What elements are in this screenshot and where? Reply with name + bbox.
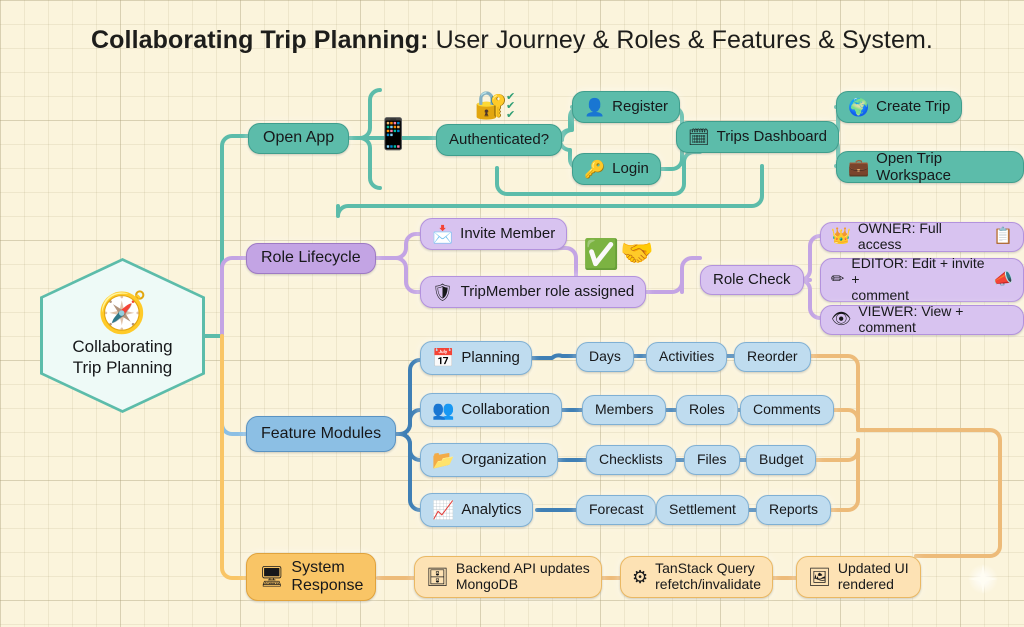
node-step-days[interactable]: Days	[576, 342, 634, 372]
root-node[interactable]: 🧭 Collaborating Trip Planning	[40, 258, 205, 413]
node-open-trip-workspace-label: Open Trip Workspace	[876, 150, 1012, 184]
node-login-label: Login	[612, 160, 649, 177]
sparkle-decoration	[962, 558, 1004, 600]
calendar-pin-icon: 🗓	[688, 129, 710, 146]
node-module-planning[interactable]: 📅 Planning	[420, 341, 532, 375]
node-trips-dashboard-label: Trips Dashboard	[717, 128, 827, 145]
branch-system-response[interactable]: 🖥 System Response	[246, 553, 376, 601]
node-step-members-label: Members	[595, 402, 653, 418]
handshake-icon: 🤝	[620, 240, 654, 267]
node-tanstack-query-label: TanStack Query refetch/invalidate	[655, 561, 761, 593]
node-module-organization-label: Organization	[461, 451, 546, 468]
megaphone-icon: 📣	[993, 272, 1013, 288]
node-step-reports-label: Reports	[769, 502, 818, 518]
compass-icon: 🧭	[98, 293, 148, 333]
node-tanstack-query[interactable]: ⚙ TanStack Query refetch/invalidate	[620, 556, 773, 598]
pencil-icon: ✏	[831, 272, 844, 288]
eye-icon: 👁	[831, 312, 851, 328]
node-step-activities[interactable]: Activities	[646, 342, 727, 372]
node-step-roles-label: Roles	[689, 402, 725, 418]
node-step-forecast[interactable]: Forecast	[576, 495, 656, 525]
page-title-rest: User Journey & Roles & Features & System…	[429, 26, 933, 54]
node-backend-api-mongodb[interactable]: 🗄 Backend API updates MongoDB	[414, 556, 602, 598]
branch-role-lifecycle[interactable]: Role Lifecycle	[246, 243, 376, 274]
shield-star-icon: 🛡	[432, 284, 454, 301]
branch-feature-modules-label: Feature Modules	[261, 425, 381, 443]
envelope-user-icon: 📩	[432, 226, 453, 243]
node-register-label: Register	[612, 98, 668, 115]
node-role-editor-label: EDITOR: Edit + invite + comment	[851, 256, 987, 304]
key-icon: 🔑	[584, 161, 605, 178]
node-step-checklists[interactable]: Checklists	[586, 445, 676, 475]
node-updated-ui-rendered[interactable]: 🖼 Updated UI rendered	[796, 556, 921, 598]
node-module-analytics[interactable]: 📈 Analytics	[420, 493, 533, 527]
node-authenticated[interactable]: Authenticated?	[436, 124, 562, 156]
node-step-comments[interactable]: Comments	[740, 395, 834, 425]
node-tripmember-assigned-label: TripMember role assigned	[461, 283, 635, 300]
folder-icon: 📂	[432, 451, 454, 469]
node-step-files-label: Files	[697, 452, 727, 468]
node-trips-dashboard[interactable]: 🗓 Trips Dashboard	[676, 121, 839, 153]
node-role-viewer-label: VIEWER: View + comment	[858, 304, 1013, 336]
branch-open-app[interactable]: Open App	[248, 123, 349, 154]
node-invite-member[interactable]: 📩 Invite Member	[420, 218, 567, 250]
node-updated-ui-rendered-label: Updated UI rendered	[838, 561, 909, 593]
node-step-reorder-label: Reorder	[747, 349, 798, 365]
branch-system-response-label: System Response	[291, 559, 363, 595]
node-module-collaboration-label: Collaboration	[461, 401, 549, 418]
briefcase-icon: 💼	[848, 159, 869, 176]
node-step-members[interactable]: Members	[582, 395, 666, 425]
node-step-forecast-label: Forecast	[589, 502, 643, 518]
node-step-settlement[interactable]: Settlement	[656, 495, 749, 525]
node-role-check[interactable]: Role Check	[700, 265, 804, 295]
node-module-analytics-label: Analytics	[461, 501, 521, 518]
node-module-planning-label: Planning	[461, 349, 519, 366]
crown-icon: 👑	[831, 229, 851, 245]
monitor-sync-icon: 🖥	[259, 567, 284, 587]
add-user-icon: 👤	[584, 99, 605, 116]
node-step-days-label: Days	[589, 349, 621, 365]
branch-feature-modules[interactable]: Feature Modules	[246, 416, 396, 452]
node-step-reorder[interactable]: Reorder	[734, 342, 811, 372]
node-login[interactable]: 🔑 Login	[572, 153, 661, 185]
mobile-phone-icon: 📱	[377, 104, 410, 166]
node-step-budget[interactable]: Budget	[746, 445, 816, 475]
page-title: Collaborating Trip Planning: User Journe…	[0, 26, 1024, 55]
node-role-check-label: Role Check	[713, 271, 791, 288]
people-group-icon: 👥	[432, 401, 454, 419]
branch-open-app-label: Open App	[263, 129, 334, 147]
window-sync-icon: 🖼	[808, 568, 831, 586]
node-tripmember-assigned[interactable]: 🛡 TripMember role assigned	[420, 276, 646, 308]
node-step-roles[interactable]: Roles	[676, 395, 738, 425]
node-step-settlement-label: Settlement	[669, 502, 736, 518]
clipboard-icon: 📋	[993, 229, 1013, 245]
mindmap-canvas: Collaborating Trip Planning: User Journe…	[0, 0, 1024, 627]
page-title-bold: Collaborating Trip Planning:	[91, 26, 429, 54]
lock-check-icon: 🔐	[474, 92, 508, 119]
node-role-editor[interactable]: ✏ EDITOR: Edit + invite + comment 📣	[820, 258, 1024, 302]
check-marks-icon: ✔✔✔	[506, 93, 515, 120]
node-module-collaboration[interactable]: 👥 Collaboration	[420, 393, 562, 427]
node-register[interactable]: 👤 Register	[572, 91, 680, 123]
calendar-clock-icon: 📅	[432, 349, 454, 367]
chart-pie-icon: 📈	[432, 501, 454, 519]
mobile-phone-glyph: 📱	[375, 120, 412, 150]
node-open-trip-workspace[interactable]: 💼 Open Trip Workspace	[836, 151, 1024, 183]
database-icon: 🗄	[426, 568, 449, 586]
root-hex-inner: 🧭 Collaborating Trip Planning	[43, 261, 202, 410]
node-invite-member-label: Invite Member	[460, 225, 555, 242]
root-label: Collaborating Trip Planning	[72, 337, 172, 378]
gear-icon: ⚙	[632, 568, 648, 586]
branch-role-lifecycle-label: Role Lifecycle	[261, 249, 361, 267]
node-authenticated-label: Authenticated?	[449, 131, 549, 148]
node-step-budget-label: Budget	[759, 452, 803, 468]
node-role-viewer[interactable]: 👁 VIEWER: View + comment	[820, 305, 1024, 335]
node-role-owner-label: OWNER: Full access	[858, 221, 987, 253]
node-role-owner[interactable]: 👑 OWNER: Full access 📋	[820, 222, 1024, 252]
node-create-trip[interactable]: 🌍 Create Trip	[836, 91, 962, 123]
node-step-reports[interactable]: Reports	[756, 495, 831, 525]
node-step-files[interactable]: Files	[684, 445, 740, 475]
node-step-activities-label: Activities	[659, 349, 714, 365]
node-create-trip-label: Create Trip	[876, 98, 950, 115]
node-step-checklists-label: Checklists	[599, 452, 663, 468]
check-mark-icon: ✅	[583, 241, 619, 270]
node-step-comments-label: Comments	[753, 402, 821, 418]
node-backend-api-mongodb-label: Backend API updates MongoDB	[456, 561, 590, 593]
globe-icon: 🌍	[848, 99, 869, 116]
node-module-organization[interactable]: 📂 Organization	[420, 443, 558, 477]
